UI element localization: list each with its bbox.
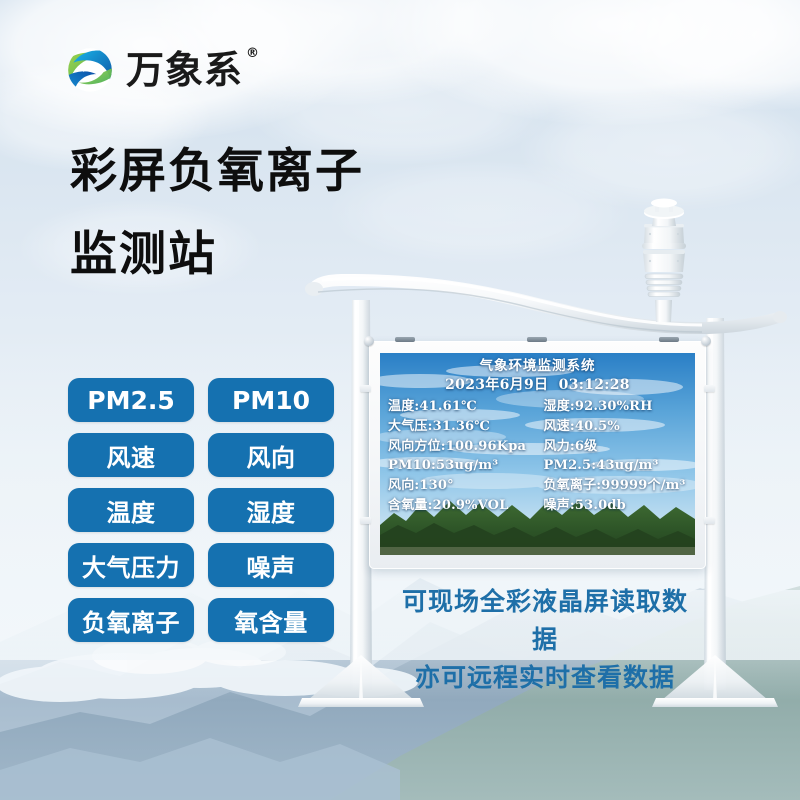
screen-readout: 气象环境监测系统 2023年6月9日 03:12:28 温度:41.61℃ 湿度… <box>380 353 695 555</box>
measurement-value: PM10:53ug/m³ <box>388 456 538 476</box>
feature-tag[interactable]: 负氧离子 <box>68 598 194 642</box>
measurement-value: 湿度:92.30%RH <box>538 397 688 417</box>
measurement-value: 含氧量:20.9%VOL <box>388 496 538 516</box>
tagline: 可现场全彩液晶屏读取数据 亦可远程实时查看数据 <box>390 583 700 697</box>
screen-title: 气象环境监测系统 <box>388 358 687 375</box>
mount-bracket <box>527 337 547 342</box>
side-lug <box>704 517 715 524</box>
side-lug <box>360 385 371 392</box>
lcd-screen[interactable]: 气象环境监测系统 2023年6月9日 03:12:28 温度:41.61℃ 湿度… <box>380 353 695 555</box>
mount-bracket <box>659 337 679 342</box>
tagline-line-2: 亦可远程实时查看数据 <box>390 659 700 697</box>
measurement-row: 温度:41.61℃ 湿度:92.30%RH <box>388 397 687 417</box>
product-poster: 万象系 ® 彩屏负氧离子 监测站 PM2.5 PM10 风速 风向 温度 湿度 … <box>0 0 800 800</box>
screen-time: 03:12:28 <box>559 377 630 393</box>
feature-tag-list: PM2.5 PM10 风速 风向 温度 湿度 大气压力 噪声 负氧离子 氧含量 <box>68 378 334 642</box>
measurement-value: 大气压:31.36℃ <box>388 417 538 437</box>
measurement-value: 风向:130° <box>388 476 538 496</box>
corner-screw-icon <box>364 336 374 346</box>
brand-name-text: 万象系 ® <box>126 51 243 89</box>
screen-measurement-rows: 温度:41.61℃ 湿度:92.30%RH 大气压:31.36℃ 风速:40.5… <box>388 397 687 516</box>
brand-name: 万象系 <box>126 48 243 92</box>
curved-canopy-beam <box>305 274 787 334</box>
measurement-value: 负氧离子:99999个/m³ <box>538 476 688 496</box>
page-title: 彩屏负氧离子 监测站 <box>70 148 490 278</box>
feature-tag[interactable]: 风向 <box>208 433 334 477</box>
measurement-row: 大气压:31.36℃ 风速:40.5% <box>388 417 687 437</box>
feature-tag[interactable]: 氧含量 <box>208 598 334 642</box>
feature-tag[interactable]: 湿度 <box>208 488 334 532</box>
screen-date: 2023年6月9日 <box>445 377 548 393</box>
measurement-row: 风向:130° 负氧离子:99999个/m³ <box>388 476 687 496</box>
measurement-row: PM10:53ug/m³ PM2.5:43ug/m³ <box>388 456 687 476</box>
screen-datetime: 2023年6月9日 03:12:28 <box>388 376 687 394</box>
measurement-value: 风力:6级 <box>538 437 688 457</box>
headline-line-2: 监测站 <box>70 231 490 278</box>
measurement-row: 含氧量:20.9%VOL 噪声:53.0db <box>388 496 687 516</box>
brand-logo: 万象系 ® <box>64 44 243 96</box>
measurement-value: 噪声:53.0db <box>538 496 688 516</box>
side-lug <box>704 385 715 392</box>
measurement-value: 温度:41.61℃ <box>388 397 538 417</box>
feature-tag[interactable]: PM10 <box>208 378 334 422</box>
feature-tag[interactable]: 温度 <box>68 488 194 532</box>
measurement-row: 风向方位:100.96Kpa 风力:6级 <box>388 437 687 457</box>
side-lug <box>360 517 371 524</box>
globe-swirl-icon <box>64 44 116 96</box>
mount-bracket <box>395 337 415 342</box>
feature-tag[interactable]: 大气压力 <box>68 543 194 587</box>
corner-screw-icon <box>701 336 711 346</box>
measurement-value: 风向方位:100.96Kpa <box>388 437 538 457</box>
feature-tag[interactable]: PM2.5 <box>68 378 194 422</box>
feature-tag[interactable]: 噪声 <box>208 543 334 587</box>
headline-line-1: 彩屏负氧离子 <box>70 144 364 199</box>
measurement-value: PM2.5:43ug/m³ <box>538 456 688 476</box>
registered-mark: ® <box>246 47 260 60</box>
measurement-value: 风速:40.5% <box>538 417 688 437</box>
ultrasonic-weather-sensor-icon <box>642 199 686 323</box>
lcd-display-frame: 气象环境监测系统 2023年6月9日 03:12:28 温度:41.61℃ 湿度… <box>369 341 706 569</box>
feature-tag[interactable]: 风速 <box>68 433 194 477</box>
tagline-line-1: 可现场全彩液晶屏读取数据 <box>390 583 700 659</box>
